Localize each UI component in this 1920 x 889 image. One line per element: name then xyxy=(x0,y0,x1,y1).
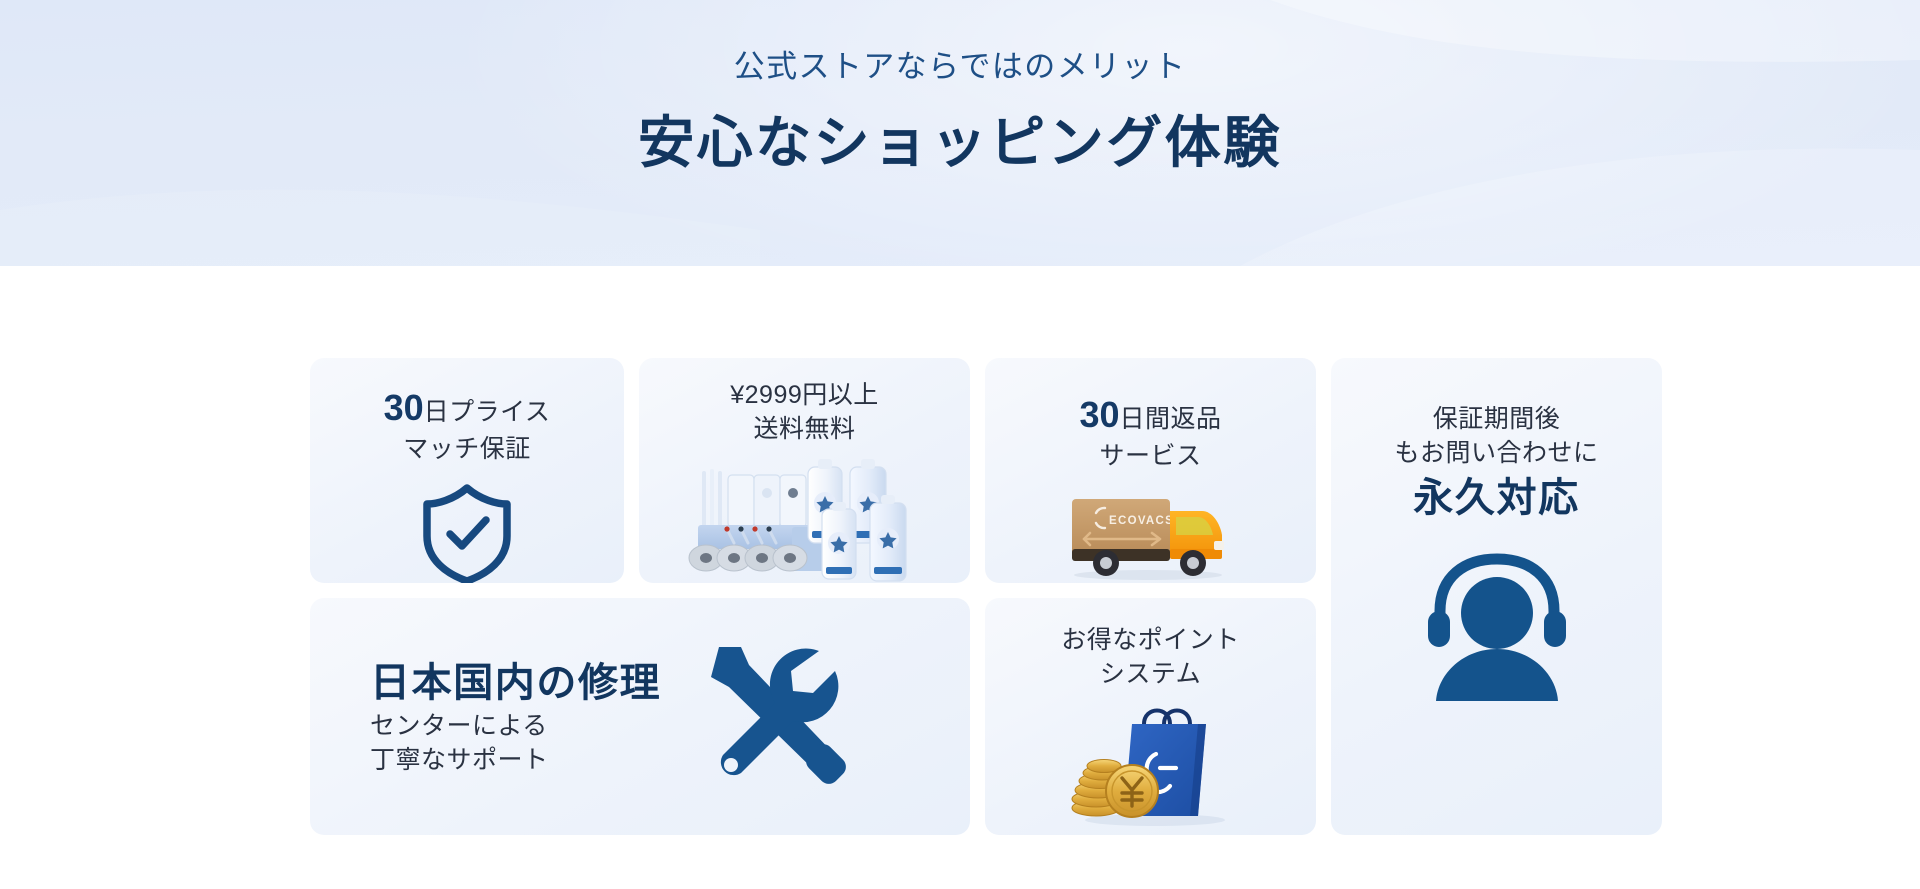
benefit-text: 日プライス xyxy=(424,398,551,426)
benefit-line: 30日プライス xyxy=(310,384,624,433)
truck-brand-label: ECOVACS xyxy=(1109,515,1174,527)
wrench-screwdriver-icon xyxy=(689,633,857,801)
delivery-truck-icon: ECOVACS xyxy=(1062,483,1240,583)
accessory-products-image xyxy=(680,453,930,584)
days-count: 30 xyxy=(384,387,424,428)
benefit-line: マッチ保証 xyxy=(310,433,624,467)
benefit-card-free-shipping[interactable]: ¥2999円以上 送料無料 xyxy=(639,358,970,583)
hero-eyebrow: 公式ストアならではのメリット xyxy=(734,48,1187,87)
shield-check-icon xyxy=(419,482,515,583)
benefit-card-free-shipping-art xyxy=(639,453,970,584)
benefit-line: お得なポイント xyxy=(985,624,1316,658)
benefit-card-price-match[interactable]: 30日プライス マッチ保証 xyxy=(310,358,624,583)
benefit-line: サービス xyxy=(985,440,1316,474)
benefit-card-points-system-text: お得なポイント システム xyxy=(985,624,1316,692)
benefit-card-points-system-art xyxy=(985,696,1316,828)
benefit-line: もお問い合わせに xyxy=(1394,437,1598,471)
benefit-line: 丁寧なサポート xyxy=(370,744,661,778)
benefit-card-domestic-repair[interactable]: 日本国内の修理 センターによる 丁寧なサポート xyxy=(310,598,970,835)
benefit-line: 保証期間後 xyxy=(1394,403,1598,437)
benefit-line: 送料無料 xyxy=(639,413,970,447)
benefit-card-price-match-art xyxy=(310,482,624,583)
benefit-card-lifetime-support-art xyxy=(1418,551,1576,701)
benefits-grid: 30日プライス マッチ保証 ¥2999円以上 送料無料 xyxy=(310,358,1617,835)
benefit-card-returns-text: 30日間返品 サービス xyxy=(985,391,1316,473)
benefit-highlight: 永久対応 xyxy=(1394,471,1598,525)
benefit-card-price-match-text: 30日プライス マッチ保証 xyxy=(310,384,624,466)
benefit-card-free-shipping-text: ¥2999円以上 送料無料 xyxy=(639,379,970,447)
benefit-text: 日間返品 xyxy=(1120,405,1222,433)
benefit-card-domestic-repair-art xyxy=(689,633,857,801)
days-count: 30 xyxy=(1079,394,1119,435)
benefit-highlight: 日本国内の修理 xyxy=(370,656,661,710)
shopping-bag-coins-icon xyxy=(1060,696,1242,828)
benefit-card-lifetime-support-text: 保証期間後 もお問い合わせに 永久対応 xyxy=(1394,403,1598,525)
benefit-line: 30日間返品 xyxy=(985,391,1316,440)
benefit-line: システム xyxy=(985,658,1316,692)
benefit-line: センターによる xyxy=(370,710,661,744)
benefit-line: ¥2999円以上 xyxy=(639,379,970,413)
benefit-card-returns[interactable]: 30日間返品 サービス xyxy=(985,358,1316,583)
benefits-board: 30日プライス マッチ保証 ¥2999円以上 送料無料 xyxy=(0,266,1920,889)
headset-support-icon xyxy=(1418,551,1576,701)
hero-banner: 公式ストアならではのメリット 安心なショッピング体験 xyxy=(0,0,1920,266)
benefit-card-returns-art: ECOVACS xyxy=(985,483,1316,583)
benefit-card-lifetime-support[interactable]: 保証期間後 もお問い合わせに 永久対応 xyxy=(1331,358,1662,835)
page-title: 安心なショッピング体験 xyxy=(638,109,1282,176)
benefit-card-domestic-repair-text: 日本国内の修理 センターによる 丁寧なサポート xyxy=(370,656,661,778)
benefit-card-points-system[interactable]: お得なポイント システム xyxy=(985,598,1316,835)
